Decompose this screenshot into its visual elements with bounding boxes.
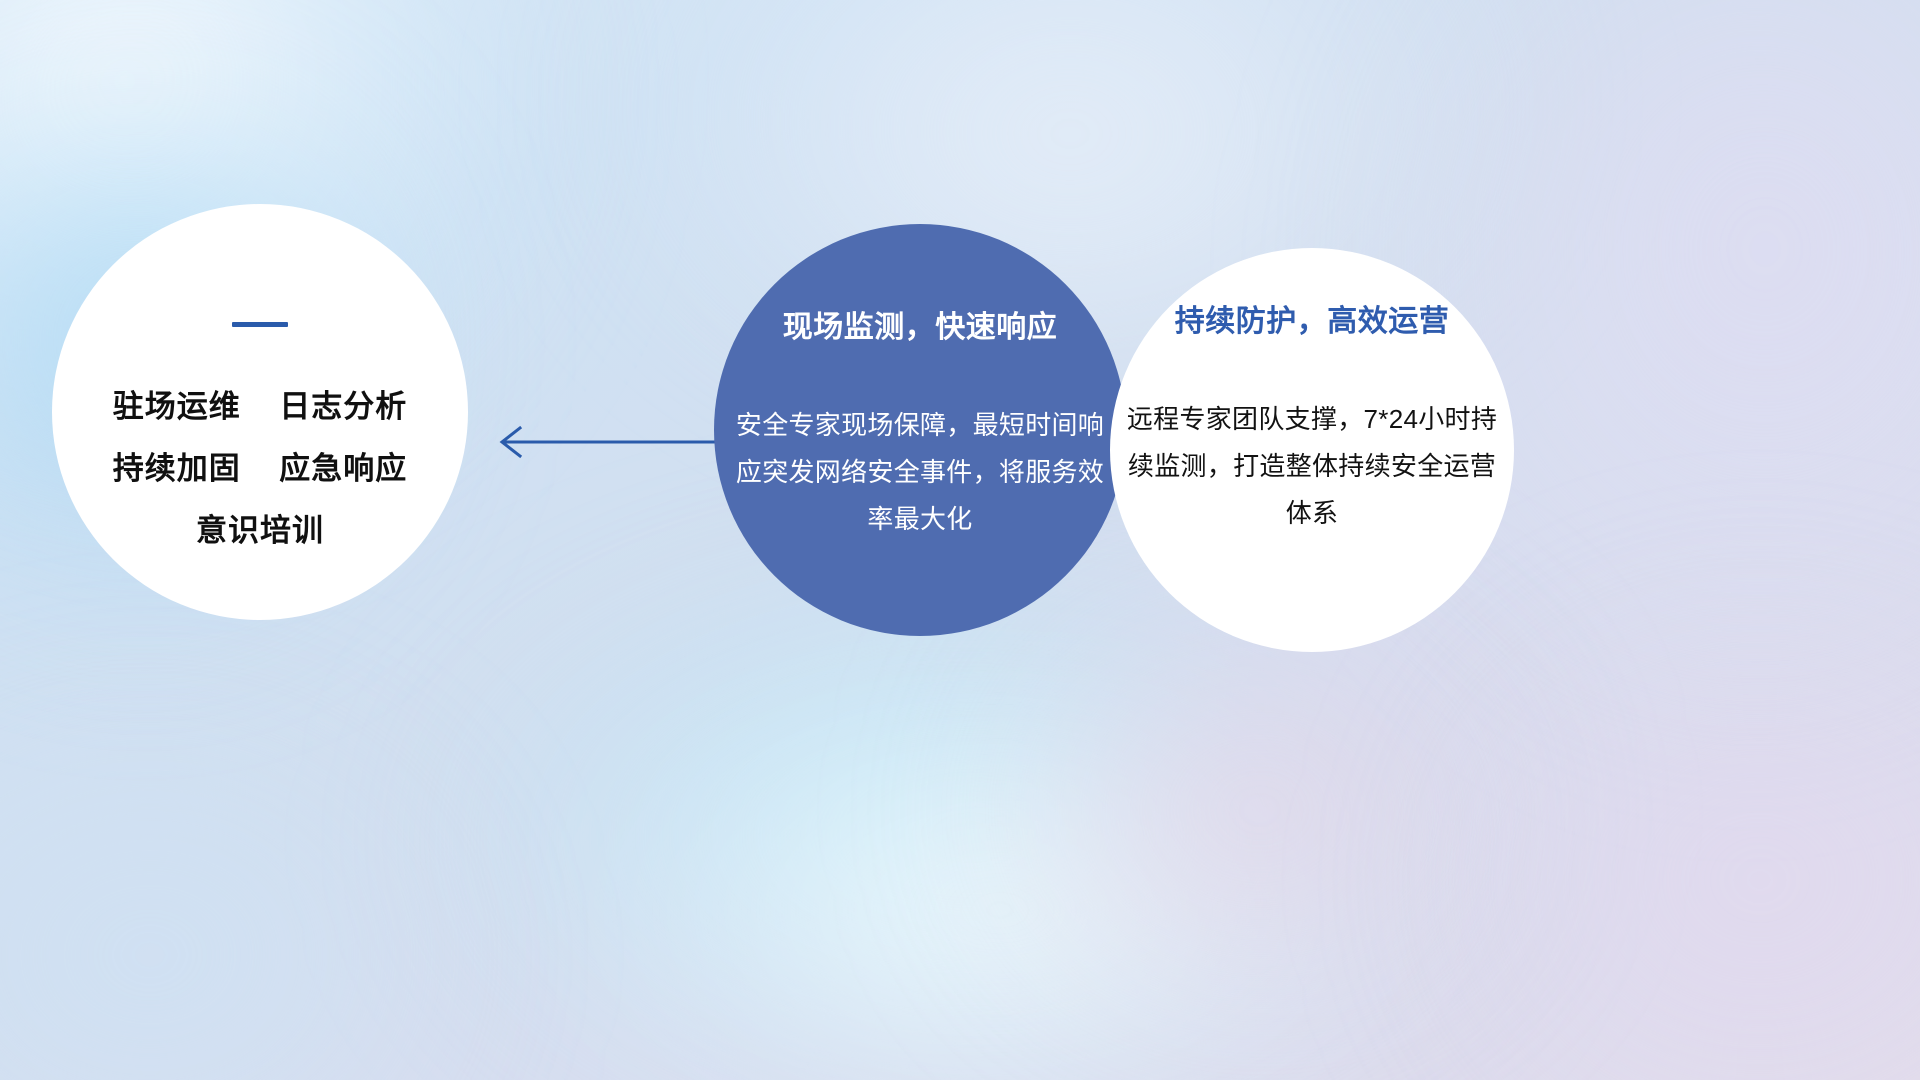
continuous-protection-title: 持续防护，高效运营 xyxy=(1110,296,1514,340)
onsite-monitoring-body: 安全专家现场保障，最短时间响应突发网络安全事件，将服务效率最大化 xyxy=(734,402,1106,543)
slide-canvas: 驻场运维 日志分析 持续加固 应急响应 意识培训 现场监测，快速响应 安全专家现… xyxy=(0,0,1920,1080)
capability-line-2: 持续加固 应急响应 xyxy=(52,438,468,500)
onsite-monitoring-title: 现场监测，快速响应 xyxy=(714,302,1126,346)
capability-list: 驻场运维 日志分析 持续加固 应急响应 意识培训 xyxy=(52,376,468,562)
service-capability-circle[interactable]: 驻场运维 日志分析 持续加固 应急响应 意识培训 xyxy=(52,204,468,620)
capability-line-3: 意识培训 xyxy=(52,500,468,562)
continuous-protection-circle[interactable]: 持续防护，高效运营 远程专家团队支撑，7*24小时持续监测，打造整体持续安全运营… xyxy=(1110,248,1514,652)
continuous-protection-body: 远程专家团队支撑，7*24小时持续监测，打造整体持续安全运营体系 xyxy=(1124,396,1500,537)
capability-line-1: 驻场运维 日志分析 xyxy=(52,376,468,438)
dash-divider-icon xyxy=(232,322,288,327)
onsite-monitoring-circle[interactable]: 现场监测，快速响应 安全专家现场保障，最短时间响应突发网络安全事件，将服务效率最… xyxy=(714,224,1126,636)
